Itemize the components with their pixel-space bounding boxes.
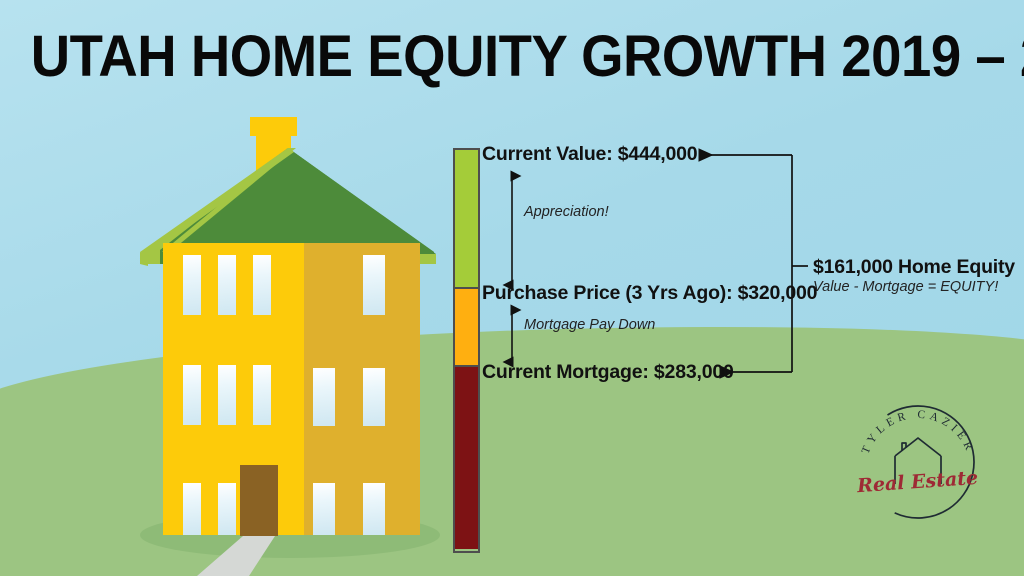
logo-script-text: Real Estate [855,467,978,497]
infographic-canvas: UTAH HOME EQUITY GROWTH 2019 – 2022 [0,0,1024,576]
label-purchase-price: Purchase Price (3 Yrs Ago): $320,000 [482,282,817,305]
brand-logo[interactable]: TYLER CAZIER Real Estate [852,396,984,528]
label-current-value: Current Value: $444,000 [482,143,697,166]
label-appreciation: Appreciation! [524,204,609,220]
label-current-mortgage: Current Mortgage: $283,000 [482,361,734,384]
label-mortgage-pay-down: Mortgage Pay Down [524,317,655,333]
logo-arc-text: TYLER CAZIER [860,409,976,456]
label-home-equity: $161,000 Home Equity [813,256,1015,279]
label-equity-formula: Value - Mortgage = EQUITY! [813,279,998,295]
